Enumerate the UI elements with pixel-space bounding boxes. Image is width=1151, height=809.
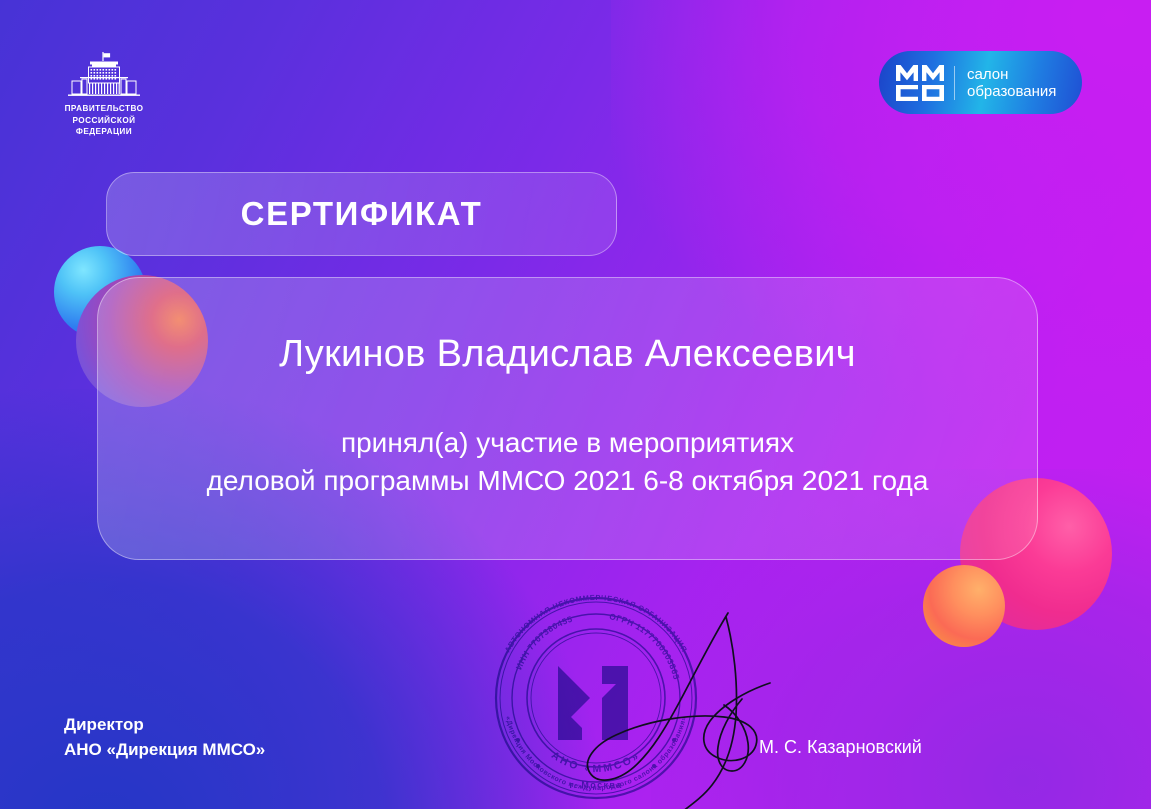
government-building-icon (52, 52, 156, 98)
signatory-position: Директор АНО «Дирекция ММСО» (64, 712, 265, 762)
position-line-2: АНО «Дирекция ММСО» (64, 737, 265, 762)
government-emblem: ПРАВИТЕЛЬСТВО РОССИЙСКОЙ ФЕДЕРАЦИИ (52, 52, 156, 138)
emblem-line-2: РОССИЙСКОЙ (52, 115, 156, 127)
mmco-monogram-icon (896, 65, 944, 101)
seal-center-mark (556, 666, 628, 740)
logo-divider (954, 66, 955, 100)
body-line-1: принял(а) участие в мероприятиях (207, 424, 929, 462)
page-title: СЕРТИФИКАТ (241, 195, 483, 233)
certificate-title-card: СЕРТИФИКАТ (106, 172, 617, 256)
body-line-2: деловой программы ММСО 2021 6-8 октября … (207, 462, 929, 500)
svg-text:АНО «ММСО»: АНО «ММСО» (549, 749, 643, 775)
svg-text:ИНН 7707380455: ИНН 7707380455 (513, 614, 573, 671)
logo-tagline-line-2: образования (967, 83, 1056, 100)
logo-tagline-line-1: салон (967, 66, 1056, 83)
emblem-line-3: ФЕДЕРАЦИИ (52, 126, 156, 138)
emblem-line-1: ПРАВИТЕЛЬСТВО (52, 103, 156, 115)
signatory-name: М. С. Казарновский (759, 737, 922, 758)
official-seal: АВТОНОМНАЯ НЕКОММЕРЧЕСКАЯ ОРГАНИЗАЦИЯ «Д… (478, 580, 714, 809)
recipient-name: Лукинов Владислав Алексеевич (279, 333, 856, 376)
position-line-1: Директор (64, 712, 265, 737)
mmco-logo[interactable]: салон образования (879, 51, 1082, 114)
certificate-body-text: принял(а) участие в мероприятиях деловой… (207, 424, 929, 500)
decorative-sphere-orange (923, 565, 1005, 647)
certificate-body-card: Лукинов Владислав Алексеевич принял(а) у… (97, 277, 1038, 560)
svg-text:г. Москва: г. Москва (569, 780, 622, 790)
certificate-canvas: ПРАВИТЕЛЬСТВО РОССИЙСКОЙ ФЕДЕРАЦИИ салон… (0, 0, 1151, 809)
